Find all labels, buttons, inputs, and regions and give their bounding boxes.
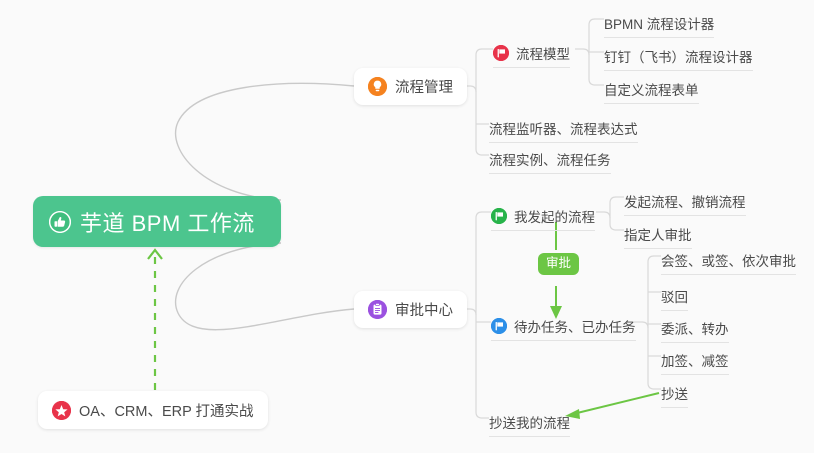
connector-ac-trunk xyxy=(461,309,489,418)
bottom-node-label: OA、CRM、ERP 打通实战 xyxy=(79,400,254,421)
connector-todo-trunk xyxy=(634,322,661,389)
leaf-process-listener[interactable]: 流程监听器、流程表达式 xyxy=(489,118,638,143)
connector-model-to-bpmn xyxy=(589,19,604,55)
mindmap-canvas: 芋道 BPM 工作流 流程管理 流程模型 BPMN 流程设计器 钉钉（飞书）流程… xyxy=(0,0,814,453)
lightbulb-icon xyxy=(368,77,387,96)
leaf-add-remove-sign[interactable]: 加签、减签 xyxy=(661,350,729,375)
leaf-assignee-approval[interactable]: 指定人审批 xyxy=(624,224,692,249)
connector-pm-to-process-model xyxy=(476,49,493,92)
root-label: 芋道 BPM 工作流 xyxy=(80,206,255,238)
branch-label: 流程管理 xyxy=(395,76,453,97)
node-label: 待办任务、已办任务 xyxy=(514,316,636,336)
leaf-reject[interactable]: 驳回 xyxy=(661,286,688,311)
branch-label: 审批中心 xyxy=(395,299,453,320)
thumbs-up-icon xyxy=(49,211,71,233)
connector-root-to-approval-center xyxy=(176,243,354,330)
branch-node-process-management[interactable]: 流程管理 xyxy=(354,68,467,105)
leaf-countersign[interactable]: 会签、或签、依次审批 xyxy=(661,250,796,275)
connector-ac-to-my-initiated xyxy=(476,212,491,315)
leaf-custom-form[interactable]: 自定义流程表单 xyxy=(604,79,699,104)
leaf-cc[interactable]: 抄送 xyxy=(661,383,688,408)
connector-todo-to-countersign xyxy=(648,256,661,328)
connector-root-to-process-management xyxy=(176,83,354,200)
node-my-initiated-processes[interactable]: 我发起的流程 xyxy=(491,206,595,231)
flag-icon xyxy=(491,318,507,334)
star-icon xyxy=(52,401,71,420)
arrow-cc-to-ccflow xyxy=(573,393,659,414)
node-process-model[interactable]: 流程模型 xyxy=(493,43,570,68)
leaf-bpmn-designer[interactable]: BPMN 流程设计器 xyxy=(604,13,714,38)
node-todo-done-tasks[interactable]: 待办任务、已办任务 xyxy=(491,316,636,341)
approval-flow-label: 审批 xyxy=(538,253,579,275)
branch-node-approval-center[interactable]: 审批中心 xyxy=(354,291,467,328)
root-node[interactable]: 芋道 BPM 工作流 xyxy=(33,196,281,247)
leaf-cc-to-me[interactable]: 抄送我的流程 xyxy=(489,412,570,437)
flag-icon xyxy=(493,45,509,61)
node-label: 我发起的流程 xyxy=(514,206,595,226)
connector-initiated-trunk xyxy=(596,212,624,230)
flag-icon xyxy=(491,208,507,224)
connector-model-trunk xyxy=(575,49,604,85)
leaf-start-cancel-process[interactable]: 发起流程、撤销流程 xyxy=(624,191,746,216)
bottom-node-integration[interactable]: OA、CRM、ERP 打通实战 xyxy=(38,391,268,429)
leaf-process-instance[interactable]: 流程实例、流程任务 xyxy=(489,149,611,174)
leaf-delegate-transfer[interactable]: 委派、转办 xyxy=(661,318,729,343)
arrow-bottom-head-icon xyxy=(148,250,162,259)
node-label: 流程模型 xyxy=(516,43,570,63)
connector-initiated-to-start xyxy=(610,197,624,218)
leaf-dingtalk-designer[interactable]: 钉钉（飞书）流程设计器 xyxy=(604,46,753,71)
clipboard-icon xyxy=(368,300,387,319)
